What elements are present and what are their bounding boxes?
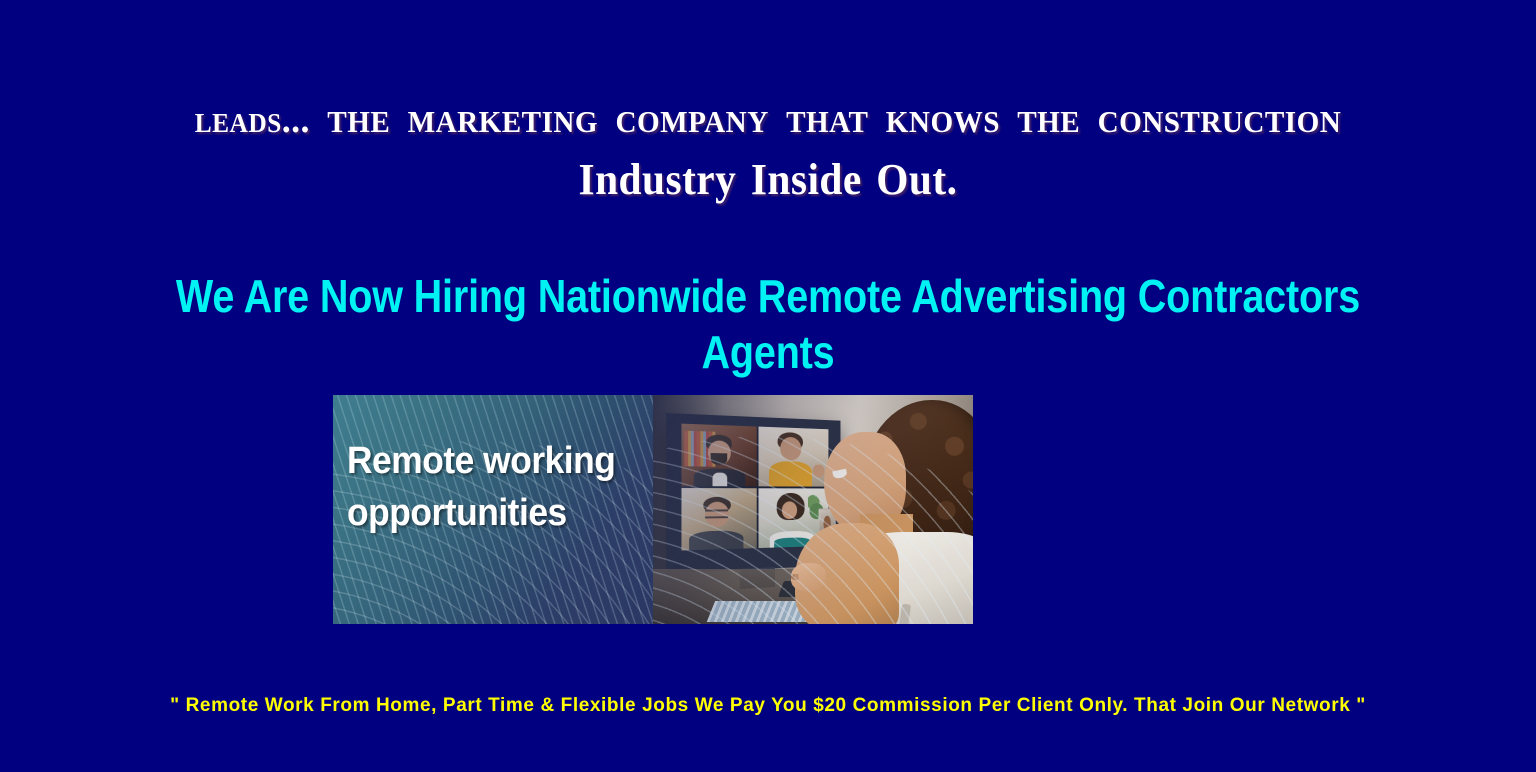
headline-line-1-rest: The marketing Company that knows the con… [327, 93, 1341, 142]
headline-line-1: leads... The marketing Company that know… [46, 88, 1490, 150]
headline-lead-word: leads... [195, 99, 310, 141]
banner-left-panel: Remote working opportunities [333, 395, 653, 624]
banner-headline: Remote working opportunities [347, 435, 615, 539]
remote-working-banner: Remote working opportunities [333, 395, 973, 624]
strap [897, 604, 910, 624]
banner-headline-line-2: opportunities [347, 487, 615, 539]
smile [832, 468, 847, 479]
commission-note: " Remote Work From Home, Part Time & Fle… [0, 693, 1536, 719]
participant-tile-1 [681, 424, 757, 487]
hiring-subheading: We Are Now Hiring Nationwide Remote Adve… [108, 268, 1429, 380]
promo-page: leads... The marketing Company that know… [0, 0, 1536, 772]
woman-on-call [813, 395, 973, 624]
participant-tile-3 [681, 488, 757, 551]
video-call-grid [681, 424, 828, 551]
banner-photo [653, 395, 973, 624]
fingers [791, 574, 802, 580]
arm [795, 523, 899, 624]
page-headline: leads... The marketing Company that know… [0, 88, 1536, 210]
headline-line-2: Industry Inside Out. [46, 150, 1490, 210]
hand-on-chin [791, 563, 826, 592]
banner-headline-line-1: Remote working [347, 435, 615, 487]
